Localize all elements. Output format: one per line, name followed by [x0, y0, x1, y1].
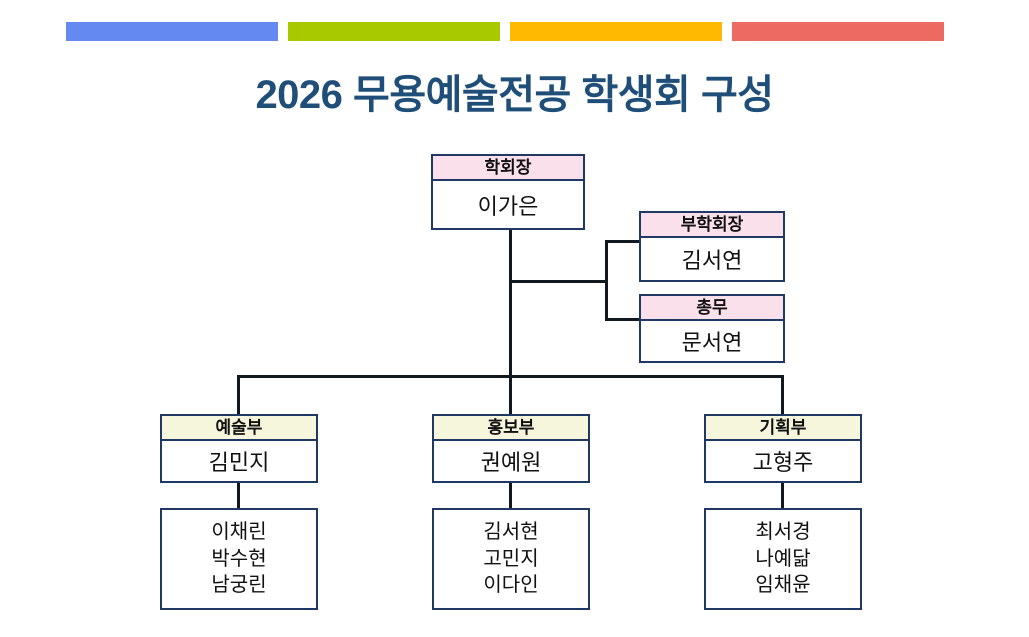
node-department-pr-lead: 권예원: [434, 441, 588, 481]
org-chart-slide: 2026 무용예술전공 학생회 구성 학회장 이가은 부학회장 김서연 총무 문…: [0, 0, 1029, 637]
member-name: 고민지: [483, 546, 538, 572]
node-department-pr-role: 홍보부: [434, 416, 588, 441]
connector-drop-planning: [781, 375, 784, 414]
member-name: 김서현: [483, 519, 538, 545]
node-vice-president-name: 김서연: [641, 238, 783, 280]
color-bar-green: [288, 22, 500, 41]
node-vice-president-role: 부학회장: [641, 213, 783, 238]
node-president[interactable]: 학회장 이가은: [431, 154, 585, 230]
connector-treasurer-stub: [605, 318, 641, 321]
member-name: 나예닮: [755, 546, 810, 572]
connector-members-pr: [509, 483, 512, 508]
node-president-role: 학회장: [433, 156, 583, 181]
node-department-arts-lead: 김민지: [162, 441, 316, 481]
color-bar-red: [732, 22, 944, 41]
members-arts[interactable]: 이채린 박수현 남궁린: [160, 508, 318, 610]
connector-drop-pr: [509, 375, 512, 414]
member-name: 남궁린: [211, 572, 266, 598]
member-name: 박수현: [211, 546, 266, 572]
connector-members-arts: [237, 483, 240, 508]
page-title: 2026 무용예술전공 학생회 구성: [0, 62, 1029, 120]
node-vice-president[interactable]: 부학회장 김서연: [639, 211, 785, 282]
node-department-arts-role: 예술부: [162, 416, 316, 441]
node-department-planning[interactable]: 기획부 고형주: [704, 414, 862, 483]
connector-exec-branch: [509, 280, 608, 283]
color-bar-blue: [66, 22, 278, 41]
node-department-pr[interactable]: 홍보부 권예원: [432, 414, 590, 483]
connector-members-planning: [781, 483, 784, 508]
member-name: 최서경: [755, 519, 810, 545]
node-department-arts[interactable]: 예술부 김민지: [160, 414, 318, 483]
members-planning[interactable]: 최서경 나예닮 임채윤: [704, 508, 862, 610]
color-bar-amber: [510, 22, 722, 41]
node-treasurer-role: 총무: [641, 296, 783, 321]
members-pr[interactable]: 김서현 고민지 이다인: [432, 508, 590, 610]
node-treasurer-name: 문서연: [641, 321, 783, 361]
connector-vice-president-stub: [605, 240, 641, 243]
connector-exec-bracket: [605, 240, 608, 321]
connector-president-trunk: [509, 230, 512, 377]
member-name: 임채윤: [755, 572, 810, 598]
connector-drop-arts: [237, 375, 240, 414]
node-department-planning-lead: 고형주: [706, 441, 860, 481]
node-president-name: 이가은: [433, 181, 583, 228]
node-department-planning-role: 기획부: [706, 416, 860, 441]
node-treasurer[interactable]: 총무 문서연: [639, 294, 785, 363]
member-name: 이채린: [211, 519, 266, 545]
member-name: 이다인: [483, 572, 538, 598]
